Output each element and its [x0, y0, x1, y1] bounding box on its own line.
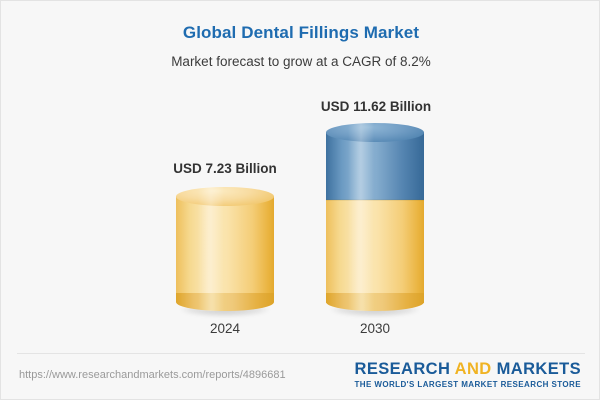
footer-divider [17, 353, 585, 354]
bar-top-cap [176, 187, 274, 206]
x-axis-label-2030: 2030 [315, 321, 435, 336]
logo-word-and: AND [455, 360, 492, 378]
bar-segment-base [176, 196, 274, 302]
bar-segment-divider [326, 199, 424, 201]
logo-word-markets: MARKETS [497, 360, 581, 378]
infographic-card: Global Dental Fillings Market Market for… [0, 0, 600, 400]
bar-segment-growth [326, 132, 424, 200]
research-and-markets-logo[interactable]: RESEARCH AND MARKETS THE WORLD'S LARGEST… [354, 361, 581, 389]
value-label-2024: USD 7.23 Billion [145, 161, 305, 176]
page-subtitle: Market forecast to grow at a CAGR of 8.2… [1, 54, 600, 69]
bar-bottom-cap [176, 293, 274, 311]
page-title: Global Dental Fillings Market [1, 23, 600, 43]
bar-cylinder-2024 [176, 187, 274, 311]
x-axis-label-2024: 2024 [165, 321, 285, 336]
bar-segment-base [326, 200, 424, 303]
report-url[interactable]: https://www.researchandmarkets.com/repor… [19, 369, 286, 381]
bar-bottom-cap [326, 293, 424, 311]
value-label-2030: USD 11.62 Billion [296, 99, 456, 114]
bar-cylinder-2030 [326, 123, 424, 311]
logo-tagline: THE WORLD'S LARGEST MARKET RESEARCH STOR… [354, 380, 581, 389]
logo-word-research: RESEARCH [355, 360, 451, 378]
logo-wordmark: RESEARCH AND MARKETS [354, 361, 581, 378]
bar-top-cap [326, 123, 424, 142]
